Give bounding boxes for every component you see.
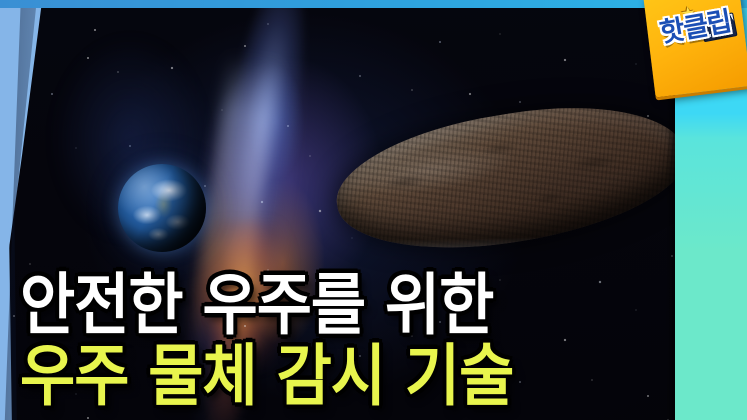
hot-clip-logo-badge[interactable]: 핫클립 (643, 0, 747, 97)
headline-line-1: 안전한 우주를 위한 (18, 273, 515, 339)
video-thumbnail: 안전한 우주를 위한 우주 물체 감시 기술 핫클립 (0, 0, 747, 420)
top-frame-strip (0, 0, 747, 8)
headline: 안전한 우주를 위한 우주 물체 감시 기술 (18, 280, 515, 410)
earth-planet (118, 164, 206, 252)
earth-terminator-shadow (118, 164, 206, 252)
headline-line-2: 우주 물체 감시 기술 (18, 344, 515, 410)
